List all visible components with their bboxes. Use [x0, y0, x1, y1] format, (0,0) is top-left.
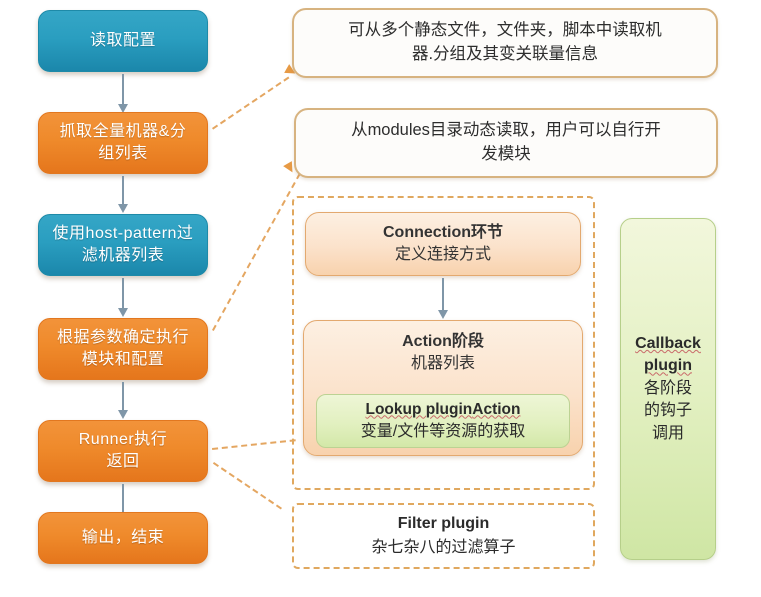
- pointer-line-runner-to-filter-panel: [213, 462, 282, 510]
- arrow-host-pattern-to-determine-module: [122, 278, 124, 308]
- flow-step-fetch-hosts: 抓取全量机器&分 组列表: [38, 112, 208, 174]
- callout-text: 从modules目录动态读取，用户可以自行开 发模块: [351, 119, 661, 167]
- flow-step-determine-module: 根据参数确定执行 模块和配置: [38, 318, 208, 380]
- callout-modules-note: 从modules目录动态读取，用户可以自行开 发模块: [294, 108, 718, 178]
- callback-plugin-box: Callback plugin 各阶段 的钩子 调用: [620, 218, 716, 560]
- flow-step-read-config: 读取配置: [38, 10, 208, 72]
- flow-step-label: 读取配置: [90, 30, 156, 52]
- flow-step-label: 抓取全量机器&分 组列表: [60, 121, 187, 164]
- arrow-runner-to-output: [122, 484, 124, 512]
- arrow-connection-to-action: [442, 278, 444, 310]
- arrow-read-config-to-fetch-hosts: [122, 74, 124, 104]
- flow-step-label: 使用host-pattern过 滤机器列表: [53, 223, 194, 266]
- callout-inventory-note: 可从多个静态文件，文件夹，脚本中读取机 器.分组及其变关联量信息: [292, 8, 718, 78]
- flow-step-label: 输出，结束: [82, 527, 165, 549]
- flow-step-runner-exec: Runner执行 返回: [38, 420, 208, 482]
- connection-stage-text: Connection环节 定义连接方式: [383, 222, 503, 267]
- callout-text: 可从多个静态文件，文件夹，脚本中读取机 器.分组及其变关联量信息: [348, 19, 662, 67]
- action-stage-text: Action阶段 机器列表: [304, 321, 582, 376]
- filter-plugin-text: Filter plugin 杂七杂八的过滤算子: [371, 515, 515, 557]
- flow-step-output-end: 输出，结束: [38, 512, 208, 564]
- filter-plugin-panel: Filter plugin 杂七杂八的过滤算子: [292, 503, 595, 569]
- callback-plugin-text: Callback plugin 各阶段 的钩子 调用: [631, 333, 705, 445]
- arrow-fetch-hosts-to-host-pattern: [122, 176, 124, 204]
- flow-step-label: Runner执行 返回: [79, 429, 167, 472]
- flow-step-host-pattern: 使用host-pattern过 滤机器列表: [38, 214, 208, 276]
- arrow-determine-module-to-runner: [122, 382, 124, 410]
- pointer-line-fetch-hosts-to-inventory-note: [212, 77, 289, 130]
- diagram-canvas: 读取配置 抓取全量机器&分 组列表 使用host-pattern过 滤机器列表 …: [0, 0, 761, 597]
- pointer-line-runner-to-runner-panel: [212, 439, 296, 450]
- flow-step-label: 根据参数确定执行 模块和配置: [57, 327, 189, 370]
- connection-stage-box: Connection环节 定义连接方式: [305, 212, 581, 276]
- lookup-plugin-box: Lookup pluginAction 变量/文件等资源的获取: [316, 394, 570, 448]
- lookup-plugin-title: Lookup pluginAction: [366, 400, 521, 421]
- lookup-plugin-subtitle: 变量/文件等资源的获取: [361, 421, 525, 443]
